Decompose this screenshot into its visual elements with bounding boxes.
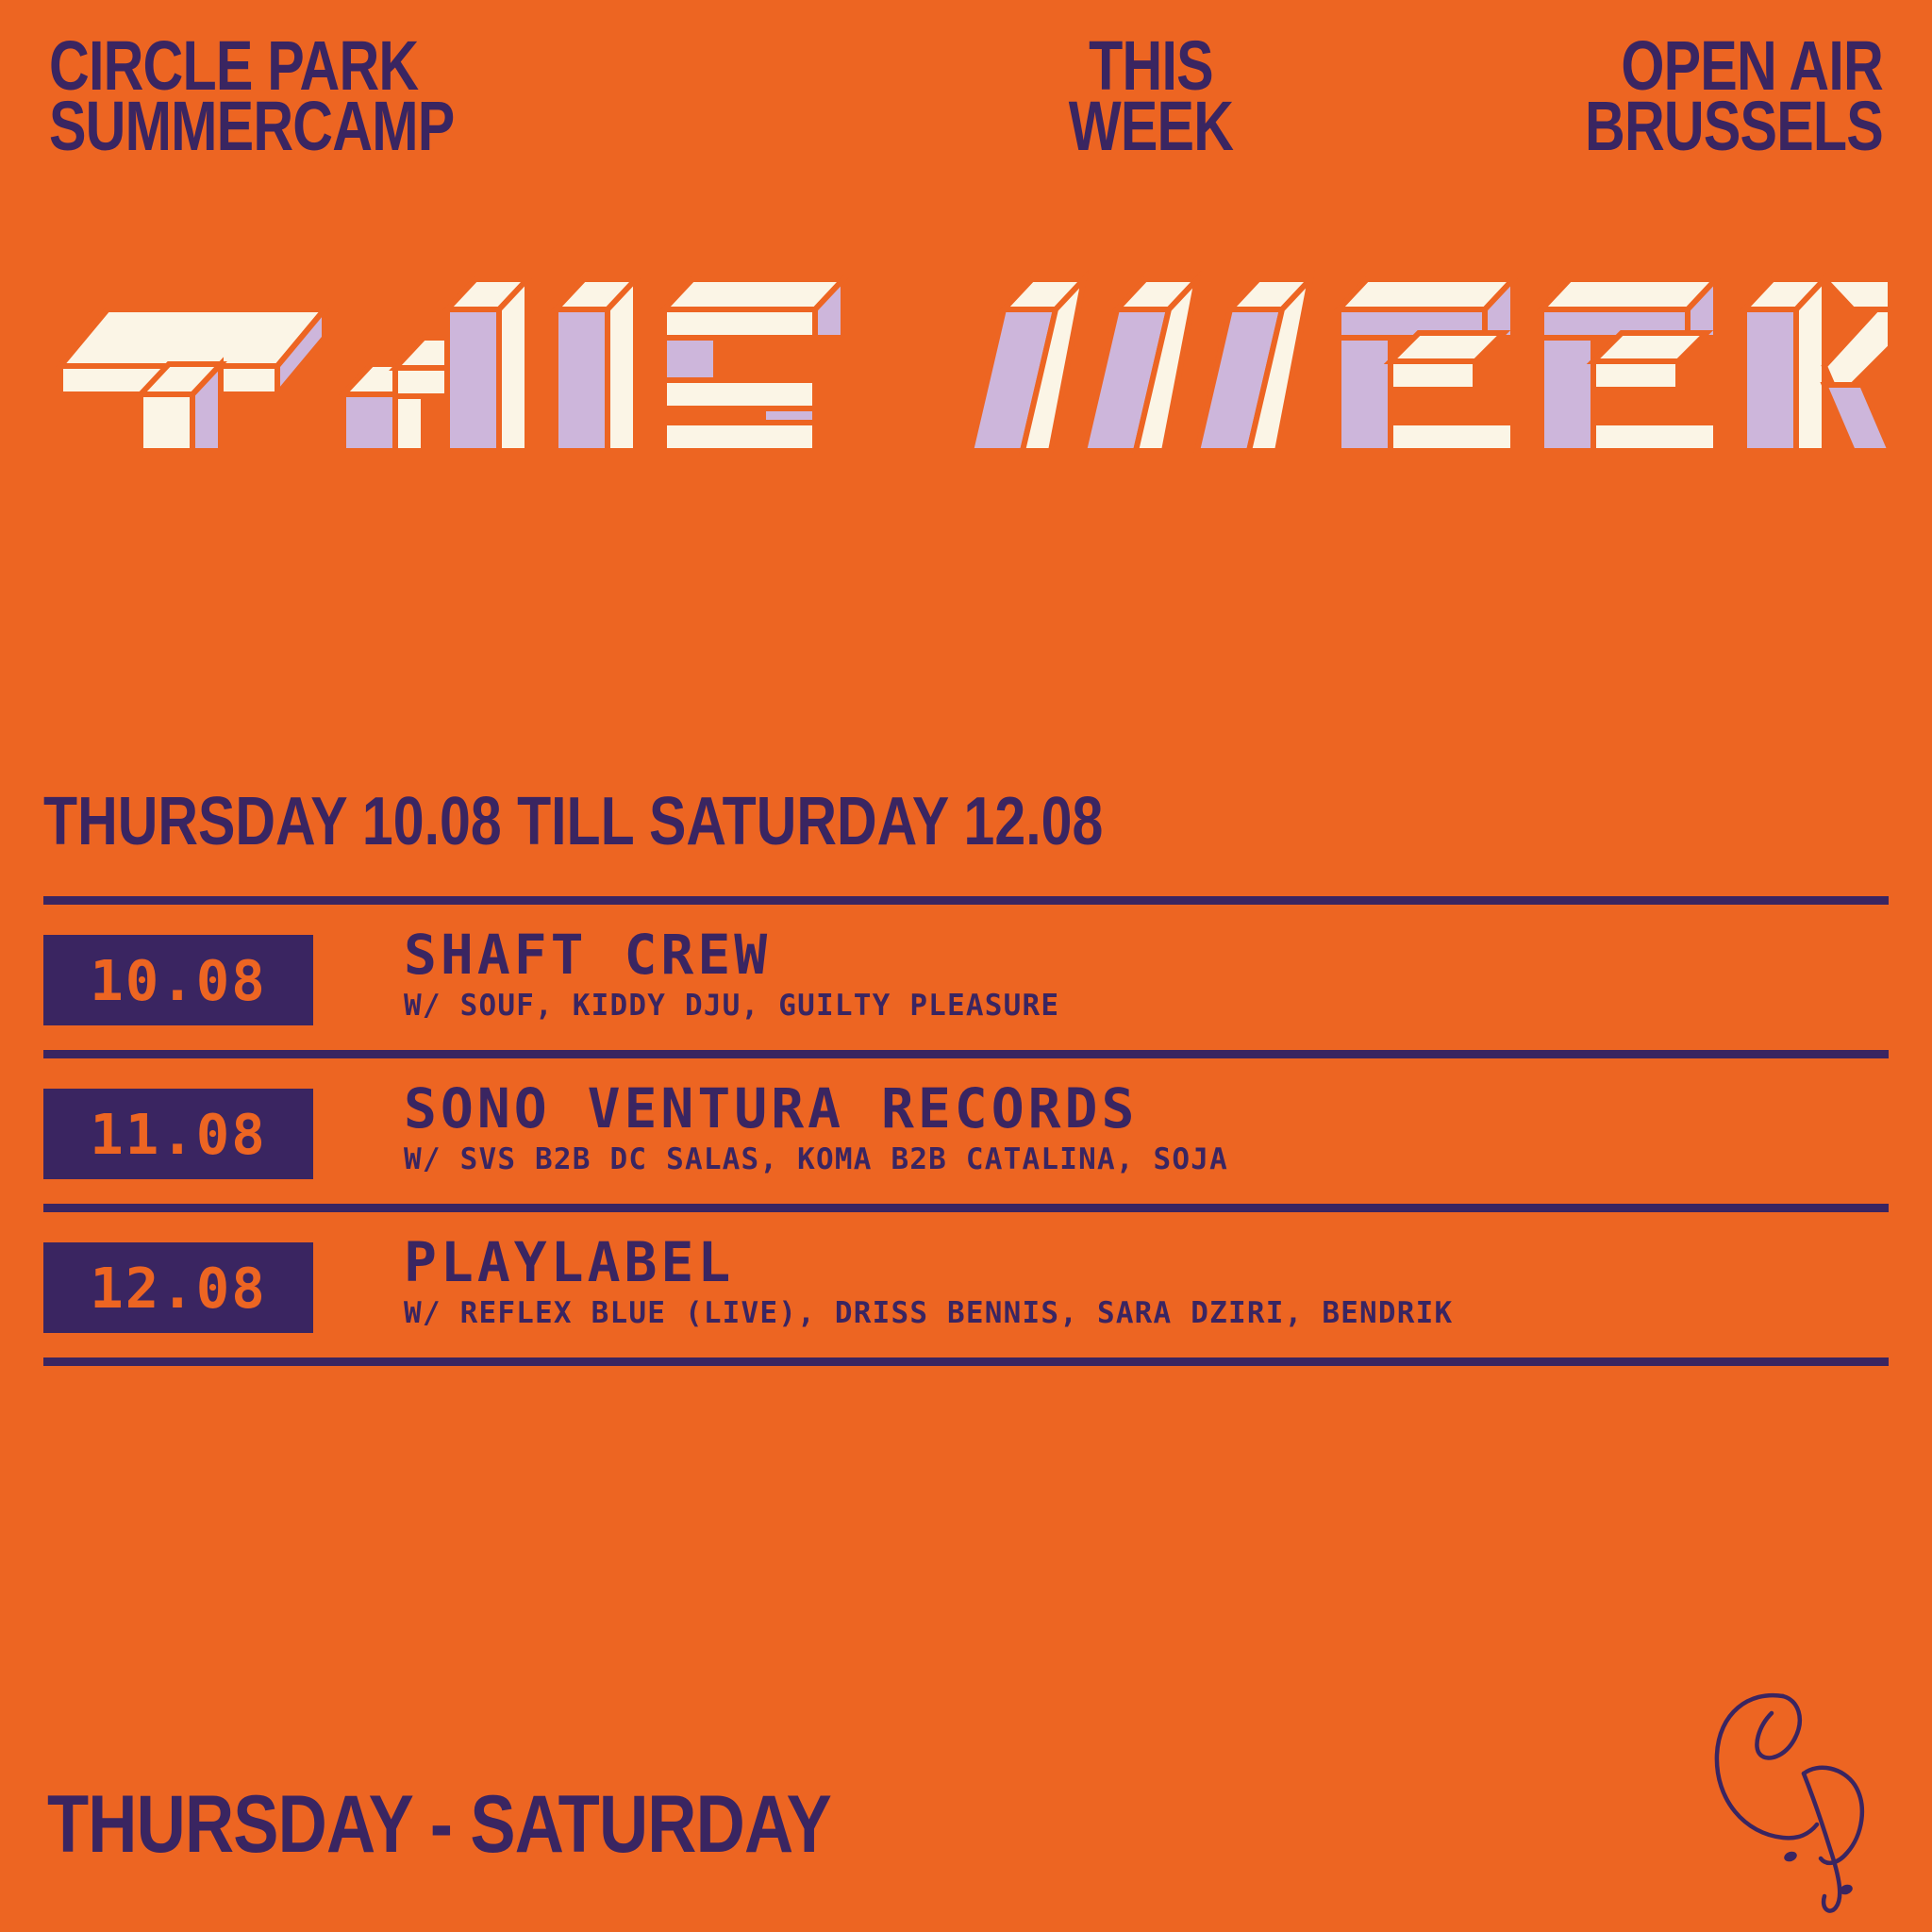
header-brand-line2: SUMMERCAMP xyxy=(49,96,454,157)
schedule-rule-2 xyxy=(43,1204,1889,1212)
schedule-date-badge: 10.08 xyxy=(43,935,313,1025)
table-row[interactable]: 12.08 PLAYLABEL W/ REFLEX BLUE (LIVE), D… xyxy=(43,1212,1889,1357)
schedule-date-badge: 12.08 xyxy=(43,1242,313,1333)
table-row[interactable]: 10.08 SHAFT CREW W/ SOUF, KIDDY DJU, GUI… xyxy=(43,905,1889,1050)
header-period-line2: WEEK xyxy=(1069,96,1233,157)
schedule-lineup: W/ REFLEX BLUE (LIVE), DRISS BENNIS, SAR… xyxy=(404,1297,1453,1329)
schedule-row-text: SONO VENTURA RECORDS W/ SVS B2B DC SALAS… xyxy=(404,1081,1228,1175)
header-venue-block: OPEN AIR BRUSSELS xyxy=(1510,36,1883,156)
hero-wordmark-this-week xyxy=(42,243,1890,451)
schedule-date-badge: 11.08 xyxy=(43,1089,313,1179)
footer-daterange: THURSDAY - SATURDAY xyxy=(47,1778,831,1872)
header-period-block: THIS WEEK xyxy=(1048,36,1254,156)
schedule-lineup: W/ SVS B2B DC SALAS, KOMA B2B CATALINA, … xyxy=(404,1143,1228,1175)
schedule-act-name: SONO VENTURA RECORDS xyxy=(404,1081,1228,1136)
hero-3d-svg xyxy=(42,243,1890,451)
poster-header: CIRCLE PARK SUMMERCAMP THIS WEEK OPEN AI… xyxy=(49,36,1883,206)
schedule-lineup: W/ SOUF, KIDDY DJU, GUILTY PLEASURE xyxy=(404,990,1059,1022)
schedule-rule-1 xyxy=(43,1050,1889,1058)
schedule-title: THURSDAY 10.08 TILL SATURDAY 12.08 xyxy=(43,783,1557,860)
schedule-act-name: SHAFT CREW xyxy=(404,927,1059,982)
header-venue-line2: BRUSSELS xyxy=(1585,96,1883,157)
table-row[interactable]: 11.08 SONO VENTURA RECORDS W/ SVS B2B DC… xyxy=(43,1058,1889,1204)
schedule-rule-bottom xyxy=(43,1357,1889,1366)
signature-svg xyxy=(1692,1668,1909,1923)
schedule-row-text: SHAFT CREW W/ SOUF, KIDDY DJU, GUILTY PL… xyxy=(404,927,1059,1022)
schedule-act-name: PLAYLABEL xyxy=(404,1235,1453,1290)
poster-canvas: CIRCLE PARK SUMMERCAMP THIS WEEK OPEN AI… xyxy=(0,0,1932,1932)
poster-footer: THURSDAY - SATURDAY xyxy=(47,1778,1885,1872)
schedule-rule-top xyxy=(43,896,1889,905)
schedule-section: THURSDAY 10.08 TILL SATURDAY 12.08 10.08… xyxy=(43,783,1889,1366)
circle-park-signature-icon xyxy=(1692,1668,1909,1923)
schedule-row-text: PLAYLABEL W/ REFLEX BLUE (LIVE), DRISS B… xyxy=(404,1235,1453,1329)
header-brand-block: CIRCLE PARK SUMMERCAMP xyxy=(49,36,556,156)
